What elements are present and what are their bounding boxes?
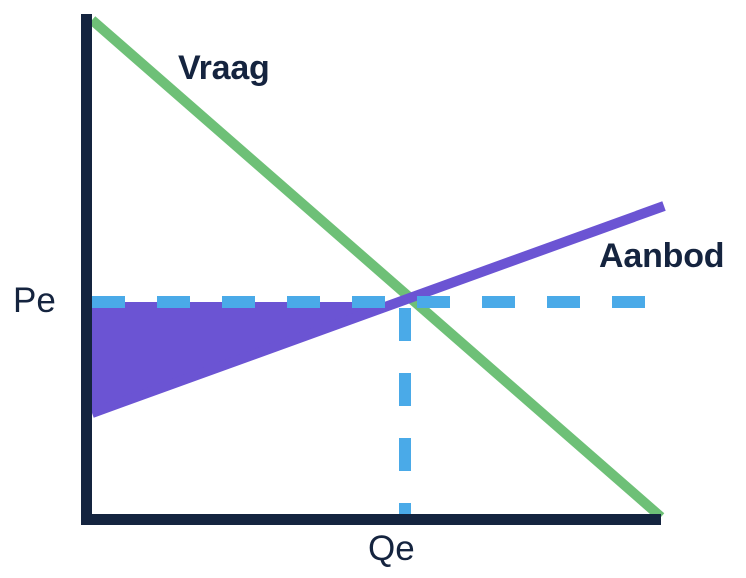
equilibrium-quantity-label: Qe	[368, 531, 415, 566]
demand-curve	[92, 20, 661, 517]
equilibrium-price-label: Pe	[13, 283, 56, 318]
quantity-axis	[81, 514, 661, 525]
price-axis	[81, 14, 92, 525]
chart-canvas	[0, 0, 746, 578]
demand-curve-label: Vraag	[178, 51, 270, 85]
supply-demand-chart: Vraag Aanbod Pe Qe	[0, 0, 746, 578]
supply-curve-label: Aanbod	[599, 239, 724, 273]
